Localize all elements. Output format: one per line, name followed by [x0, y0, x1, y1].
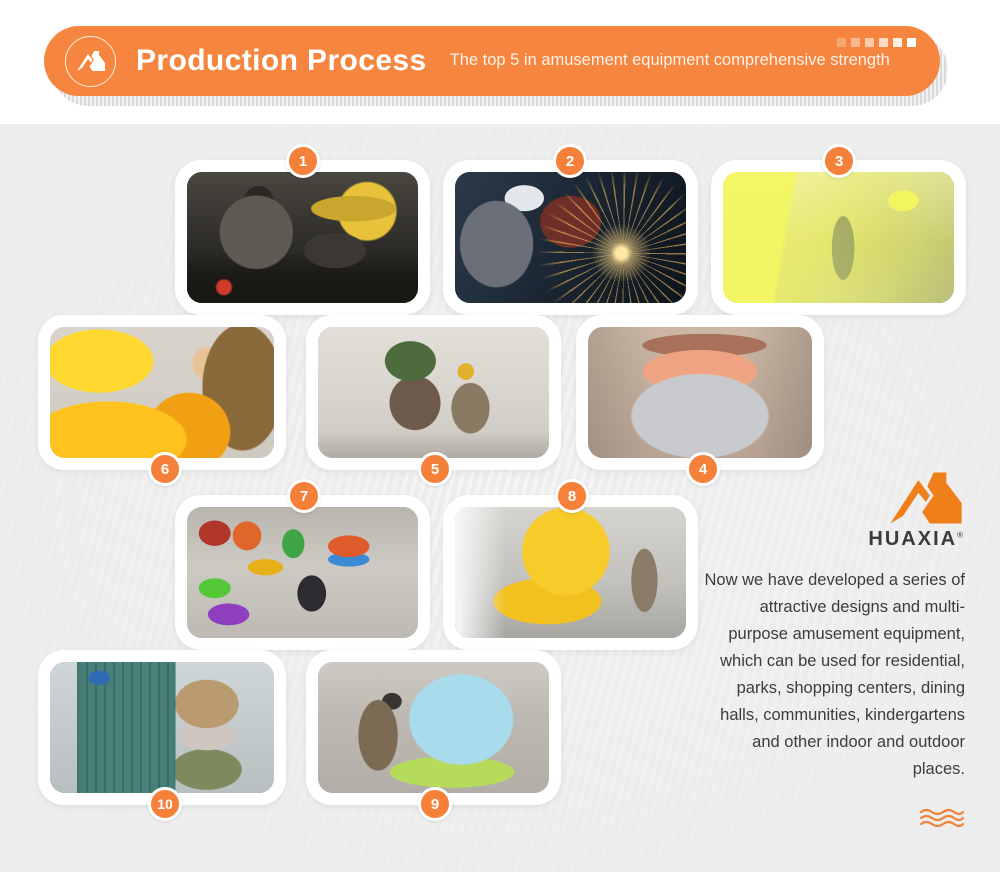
step-card-9[interactable]: 9 — [306, 650, 561, 805]
step-card-7[interactable]: 7 — [175, 495, 430, 650]
brand-name: HUAXIA® — [700, 528, 965, 551]
step-badge-3: 3 — [822, 144, 856, 178]
brand-name-text: HUAXIA — [868, 528, 957, 550]
header-banner: Production Process The top 5 in amusemen… — [44, 26, 940, 96]
step-photo-9 — [318, 662, 549, 793]
step-photo-5 — [318, 327, 549, 458]
step-card-5[interactable]: 5 — [306, 315, 561, 470]
step-badge-1: 1 — [286, 144, 320, 178]
huaxia-mountain-icon — [700, 470, 965, 526]
step-badge-7: 7 — [287, 479, 321, 513]
step-photo-4 — [588, 327, 812, 458]
step-photo-6 — [50, 327, 274, 458]
step-photo-7 — [187, 507, 418, 638]
step-card-6[interactable]: 6 — [38, 315, 286, 470]
step-card-2[interactable]: 2 — [443, 160, 698, 315]
step-photo-8 — [455, 507, 686, 638]
step-card-8[interactable]: 8 — [443, 495, 698, 650]
company-info-panel: HUAXIA® Now we have developed a series o… — [700, 470, 965, 829]
company-description: Now we have developed a series of attrac… — [700, 567, 965, 783]
step-card-3[interactable]: 3 — [711, 160, 966, 315]
step-badge-5: 5 — [418, 452, 452, 486]
step-card-4[interactable]: 4 — [576, 315, 824, 470]
step-badge-2: 2 — [553, 144, 587, 178]
step-photo-10 — [50, 662, 274, 793]
wave-lines-icon — [700, 807, 965, 829]
step-photo-2 — [455, 172, 686, 303]
header-dots-decoration — [837, 38, 916, 47]
page-subtitle: The top 5 in amusement equipment compreh… — [450, 51, 890, 71]
step-badge-8: 8 — [555, 479, 589, 513]
step-card-10[interactable]: 10 — [38, 650, 286, 805]
step-photo-1 — [187, 172, 418, 303]
step-badge-6: 6 — [148, 452, 182, 486]
step-card-1[interactable]: 1 — [175, 160, 430, 315]
step-badge-9: 9 — [418, 787, 452, 821]
step-badge-10: 10 — [148, 787, 182, 821]
step-badge-4: 4 — [686, 452, 720, 486]
step-photo-3 — [723, 172, 954, 303]
page-title: Production Process — [136, 44, 427, 78]
brand-trademark: ® — [957, 530, 965, 539]
huaxia-mountain-icon — [65, 36, 116, 87]
